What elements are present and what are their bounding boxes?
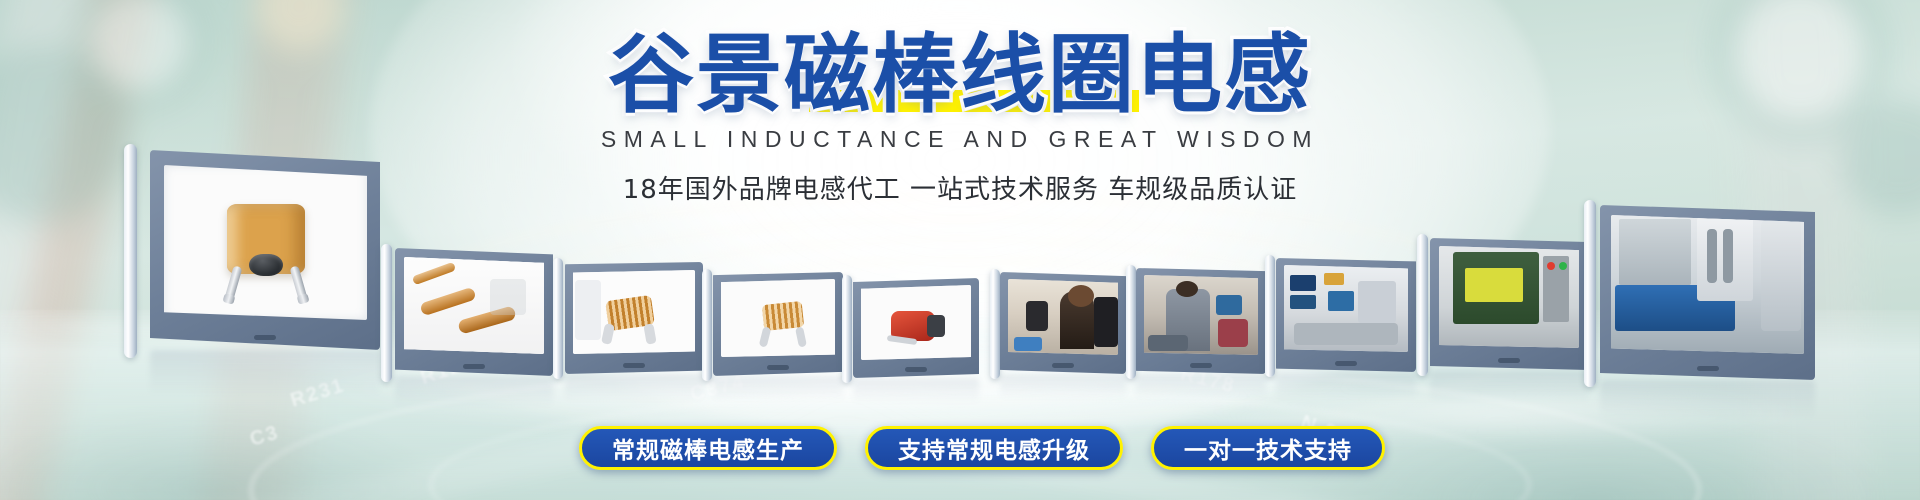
coil-inductor-photo <box>573 270 695 354</box>
panel-nub <box>767 365 789 370</box>
panel-reflection <box>713 376 843 402</box>
panel-reflection <box>565 374 703 402</box>
panel-reflection <box>1000 374 1126 400</box>
axial-inductor-photo <box>404 257 544 354</box>
panel-image <box>721 279 835 357</box>
panel-product-4[interactable] <box>713 272 843 376</box>
panel-factory-4[interactable] <box>1430 238 1588 370</box>
panel-factory-3[interactable] <box>1276 258 1416 372</box>
panel-post <box>381 244 392 382</box>
microscope-inspection-photo <box>1008 279 1118 355</box>
panel-post <box>124 144 137 358</box>
panel-reflection <box>1430 370 1588 404</box>
test-equipment-photo <box>1284 265 1408 352</box>
panel-nub <box>254 335 276 340</box>
pill-one-on-one-tech-support[interactable]: 一对一技术支持 <box>1151 426 1385 470</box>
panel-image <box>861 285 971 360</box>
panel-nub <box>1697 366 1719 371</box>
panel-post <box>990 269 1000 379</box>
panel-image <box>404 257 544 354</box>
panel-reflection <box>1136 374 1266 400</box>
panel-nub <box>463 364 485 369</box>
panel-image <box>164 165 367 320</box>
panel-reflection <box>853 378 979 404</box>
panel-product-5[interactable] <box>853 278 979 378</box>
panel-post <box>1126 265 1136 379</box>
pill-support-inductor-upgrade[interactable]: 支持常规电感升级 <box>865 426 1123 470</box>
panel-factory-1[interactable] <box>1000 272 1126 374</box>
panel-image <box>573 270 695 354</box>
red-inductor-photo <box>861 285 971 360</box>
rod-coil-inductor-photo <box>227 204 305 274</box>
copper-coil-photo <box>721 279 835 357</box>
pill-regular-rod-inductor-production[interactable]: 常规磁棒电感生产 <box>579 426 837 470</box>
panel-image <box>1439 246 1579 348</box>
panel-post <box>1417 234 1428 376</box>
panel-product-2[interactable] <box>395 248 553 376</box>
panel-factory-5[interactable] <box>1600 205 1815 380</box>
panel-post <box>842 275 852 383</box>
panel-reflection <box>150 350 380 396</box>
panel-product-3[interactable] <box>565 262 703 374</box>
panel-image <box>1144 275 1258 355</box>
panel-reflection <box>1276 372 1416 400</box>
panel-factory-2[interactable] <box>1136 268 1266 374</box>
panel-image <box>1284 265 1408 352</box>
panel-nub <box>1498 358 1520 363</box>
panel-nub <box>1335 361 1357 366</box>
panel-nub <box>1052 363 1074 368</box>
panel-reflection <box>395 376 553 408</box>
panel-post <box>1265 255 1275 377</box>
press-machine-photo <box>1439 246 1579 348</box>
panel-post <box>1584 200 1596 387</box>
promo-banner: C3 R231 R123 C374 65C4 R178 N 25 <box>0 0 1920 500</box>
feature-pill-group: 常规磁棒电感生产 支持常规电感升级 一对一技术支持 <box>0 426 1920 470</box>
panel-post <box>702 269 712 381</box>
panel-reflection <box>1600 380 1815 420</box>
panel-nub <box>623 363 645 368</box>
panel-nub <box>1190 363 1212 368</box>
assembly-line-photo <box>1144 275 1258 355</box>
panel-image <box>1611 215 1804 354</box>
winding-workshop-photo <box>1611 215 1804 354</box>
panel-coil-hero[interactable] <box>150 150 380 350</box>
panel-nub <box>905 367 927 372</box>
panel-image <box>1008 279 1118 355</box>
panel-post <box>553 258 563 379</box>
